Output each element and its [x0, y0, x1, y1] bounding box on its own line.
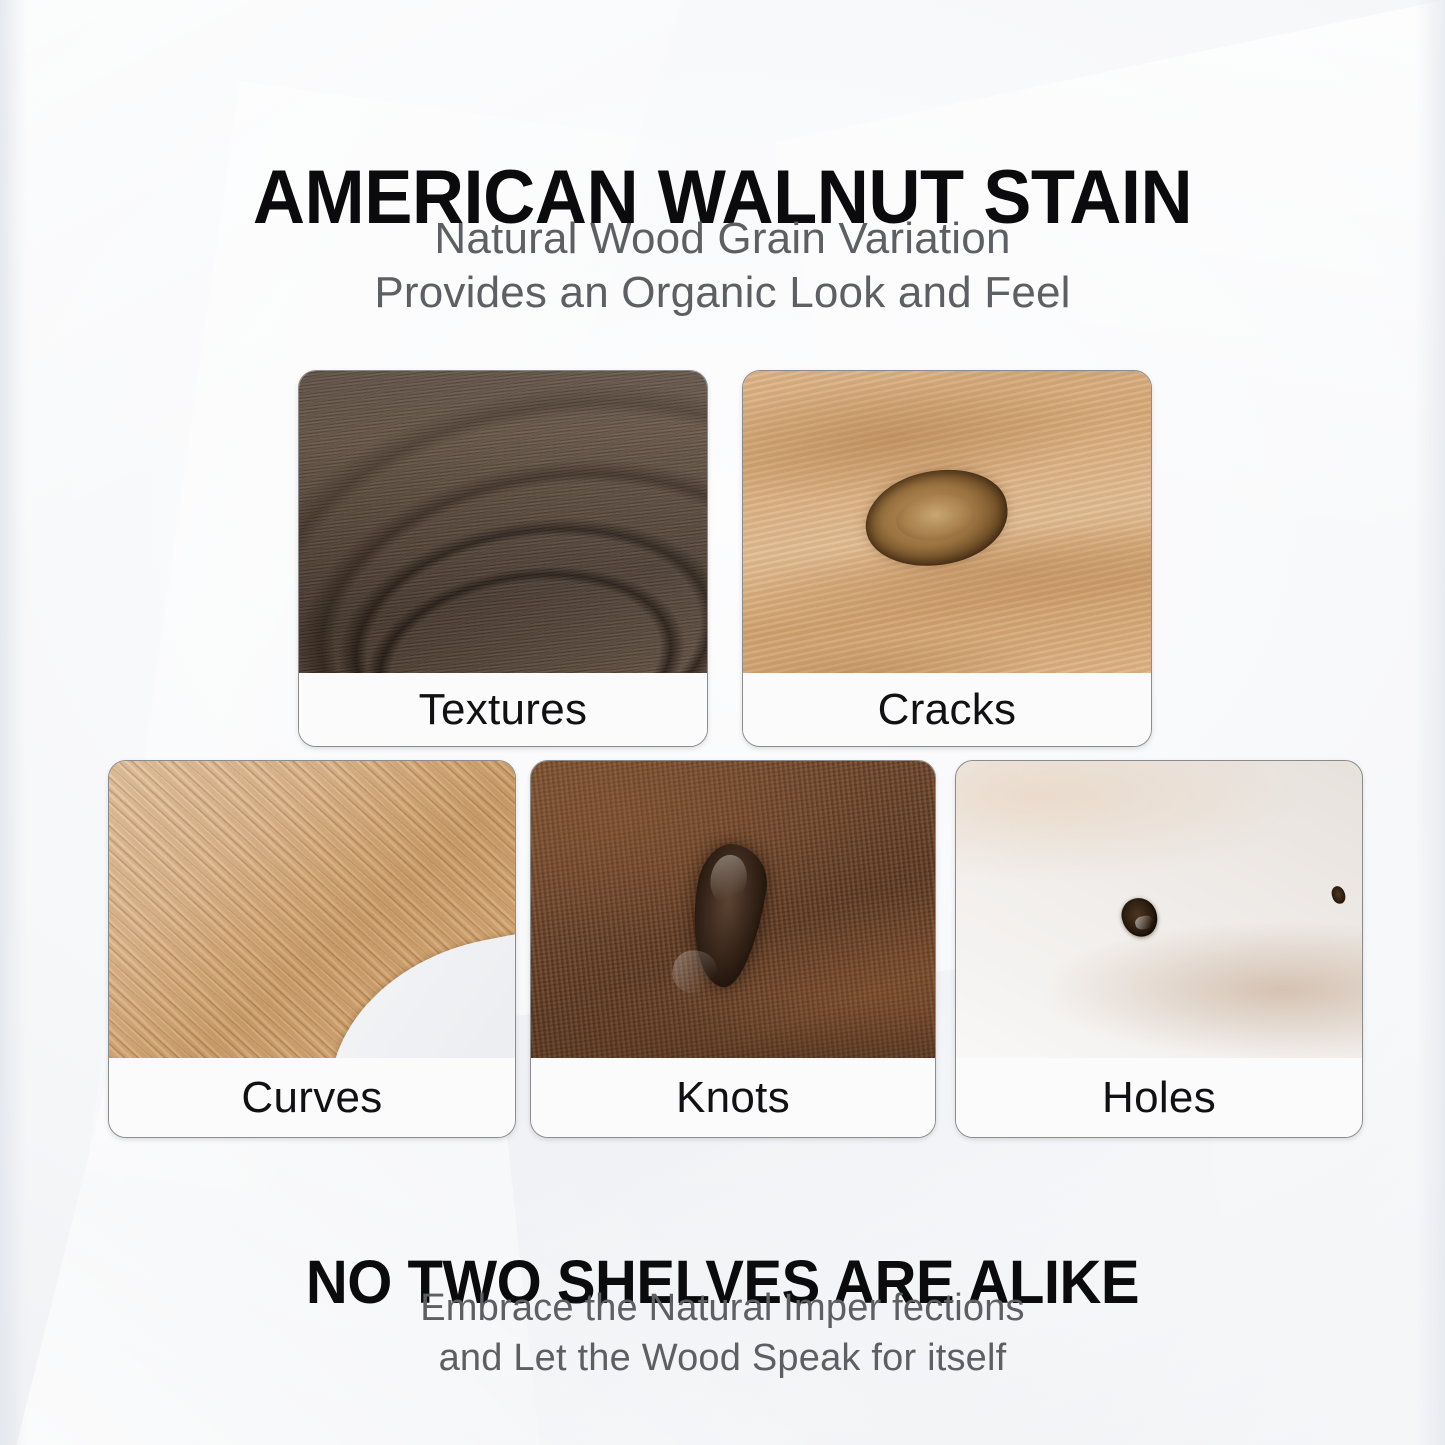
card-holes-photo	[956, 761, 1362, 1058]
infographic-canvas: AMERICAN WALNUT STAIN Natural Wood Grain…	[0, 0, 1445, 1445]
card-textures[interactable]: Textures	[298, 370, 708, 747]
wood-knots-swatch-icon	[531, 761, 935, 1058]
wood-texture-swatch-icon	[299, 371, 707, 673]
hole-primary-icon	[1119, 894, 1161, 939]
card-curves-label: Curves	[109, 1058, 515, 1137]
card-knots[interactable]: Knots	[530, 760, 936, 1138]
card-holes[interactable]: Holes	[955, 760, 1363, 1138]
content-layer: AMERICAN WALNUT STAIN Natural Wood Grain…	[0, 0, 1445, 1445]
card-curves[interactable]: Curves	[108, 760, 516, 1138]
wood-curves-swatch-icon	[109, 761, 515, 1058]
footer-subtitle-line-2: and Let the Wood Speak for itself	[0, 1333, 1445, 1383]
header-subtitle: Natural Wood Grain Variation Provides an…	[0, 212, 1445, 320]
card-curves-photo	[109, 761, 515, 1058]
card-textures-label: Textures	[299, 673, 707, 746]
footer-subtitle-line-1: Embrace the Natural Imper fections	[0, 1283, 1445, 1333]
hole-secondary-icon	[1329, 884, 1346, 905]
knot-oval-icon	[860, 461, 1014, 574]
knot-blob-icon	[682, 840, 772, 992]
header-subtitle-line-1: Natural Wood Grain Variation	[0, 212, 1445, 266]
card-knots-label: Knots	[531, 1058, 935, 1137]
wood-cracks-swatch-icon	[743, 371, 1151, 673]
wood-holes-swatch-icon	[956, 761, 1362, 1058]
card-cracks-photo	[743, 371, 1151, 673]
footer-subtitle: Embrace the Natural Imper fections and L…	[0, 1283, 1445, 1383]
card-cracks-label: Cracks	[743, 673, 1151, 746]
card-textures-photo	[299, 371, 707, 673]
card-holes-label: Holes	[956, 1058, 1362, 1137]
curved-edge-cutout-icon	[305, 930, 515, 1058]
header-subtitle-line-2: Provides an Organic Look and Feel	[0, 266, 1445, 320]
card-knots-photo	[531, 761, 935, 1058]
card-cracks[interactable]: Cracks	[742, 370, 1152, 747]
